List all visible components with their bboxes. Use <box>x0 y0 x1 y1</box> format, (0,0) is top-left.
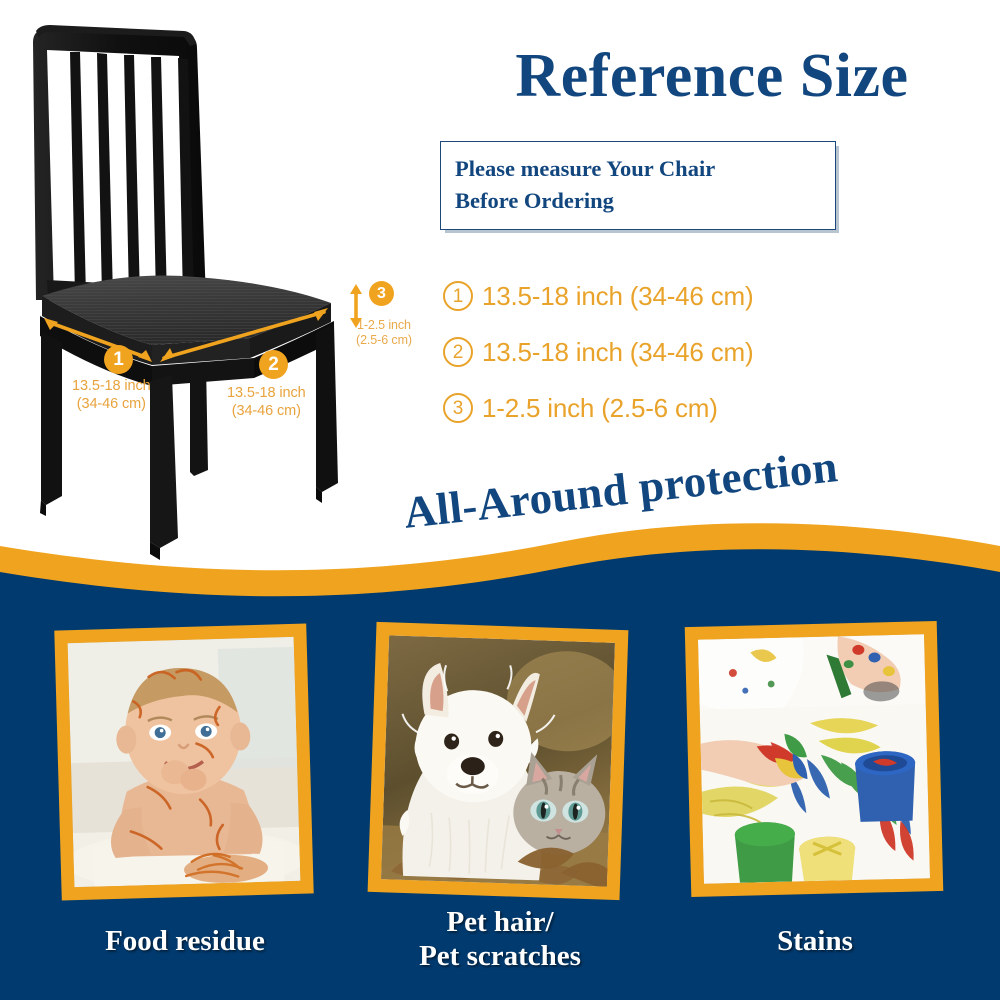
spec-number-2: 2 <box>443 337 473 367</box>
spec-value-3: 1-2.5 inch (2.5-6 cm) <box>482 393 718 424</box>
diagram-label-3: 1-2.5 inch (2.5-6 cm) <box>356 318 412 349</box>
spec-number-1: 1 <box>443 281 473 311</box>
spec-value-1: 13.5-18 inch (34-46 cm) <box>482 281 753 312</box>
feature-caption-pet-hair: Pet hair/ Pet scratches <box>355 905 645 973</box>
diagram-label-1: 13.5-18 inch (34-46 cm) <box>72 378 151 413</box>
size-spec-row: 3 1-2.5 inch (2.5-6 cm) <box>443 380 963 436</box>
feature-card-pet-hair <box>368 622 629 900</box>
diagram-badge-2: 2 <box>259 350 288 379</box>
feature-card-food-residue <box>54 624 313 901</box>
spec-value-2: 13.5-18 inch (34-46 cm) <box>482 337 753 368</box>
diagram-badge-3: 3 <box>369 281 394 306</box>
diagram-label-2: 13.5-18 inch (34-46 cm) <box>227 385 306 420</box>
messy-baby-eating-photo <box>68 637 301 887</box>
size-spec-list: 1 13.5-18 inch (34-46 cm) 2 13.5-18 inch… <box>443 268 963 436</box>
product-infographic: 1 13.5-18 inch (34-46 cm) 2 13.5-18 inch… <box>0 0 1000 1000</box>
measure-notice-text: Please measure Your Chair Before Orderin… <box>455 153 823 217</box>
measure-notice-box: Please measure Your Chair Before Orderin… <box>440 141 836 230</box>
feature-caption-stains: Stains <box>670 924 960 958</box>
spec-number-3: 3 <box>443 393 473 423</box>
dog-and-cat-photo <box>381 635 615 886</box>
page-title: Reference Size <box>432 44 992 109</box>
kids-finger-painting-photo <box>698 634 930 883</box>
feature-card-stains <box>685 621 944 897</box>
size-spec-row: 2 13.5-18 inch (34-46 cm) <box>443 324 963 380</box>
feature-caption-food-residue: Food residue <box>40 924 330 958</box>
size-spec-row: 1 13.5-18 inch (34-46 cm) <box>443 268 963 324</box>
diagram-badge-1: 1 <box>104 345 133 374</box>
